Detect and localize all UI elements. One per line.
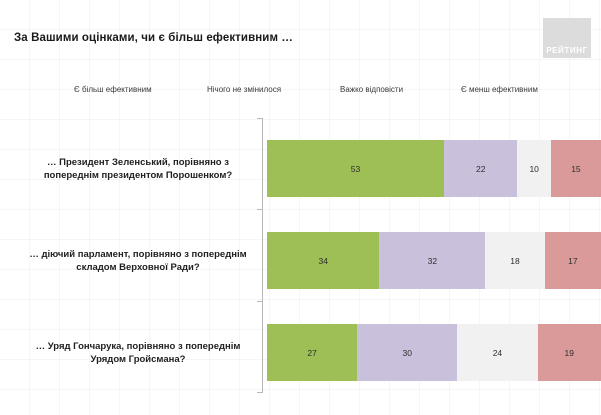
- slide-canvas: За Вашими оцінками, чи є більш ефективни…: [0, 0, 601, 415]
- bar-value-label: 27: [307, 348, 316, 358]
- category-label-line: … Уряд Гончарука, порівняно з попереднім: [20, 340, 256, 353]
- bar-row[interactable]: 27302419: [267, 324, 601, 381]
- legend-label: Є менш ефективним: [461, 85, 538, 95]
- axis-cap-top: [257, 118, 262, 119]
- bar-value-label: 53: [351, 164, 360, 174]
- bar-segment-no-change[interactable]: 32: [379, 232, 485, 289]
- category-label-president: … Президент Зеленський, порівняно з попе…: [20, 156, 256, 182]
- bar-value-label: 24: [493, 348, 502, 358]
- category-label-line: … Президент Зеленський, порівняно з: [20, 156, 256, 169]
- bar-segment-more-effective[interactable]: 27: [267, 324, 357, 381]
- bar-segment-hard-to-say[interactable]: 18: [485, 232, 545, 289]
- bar-segment-less-effective[interactable]: 17: [545, 232, 601, 289]
- bar-value-label: 32: [428, 256, 437, 266]
- brand-logo: РЕЙТИНГ: [543, 18, 591, 58]
- category-label-line: попереднім президентом Порошенком?: [20, 169, 256, 182]
- legend-swatch-lavender: [196, 87, 202, 93]
- chart-legend: Є більш ефективним Нічого не змінилося В…: [0, 83, 601, 97]
- bar-segment-no-change[interactable]: 30: [357, 324, 457, 381]
- legend-item-mensh-efektyvnym[interactable]: Є менш ефективним: [450, 83, 538, 97]
- legend-item-nichoho-ne-zminylosia[interactable]: Нічого не змінилося: [196, 83, 281, 97]
- bar-value-label: 19: [565, 348, 574, 358]
- bar-row[interactable]: 34321817: [267, 232, 601, 289]
- category-label-parliament: … діючий парламент, порівняно з попередн…: [20, 248, 256, 274]
- bar-row[interactable]: 53221015: [267, 140, 601, 197]
- category-label-line: Урядом Гройсмана?: [20, 353, 256, 366]
- category-axis-line: [262, 118, 263, 393]
- legend-swatch-gray: [329, 87, 335, 93]
- bar-segment-more-effective[interactable]: 34: [267, 232, 379, 289]
- axis-tick: [257, 301, 262, 302]
- legend-label: Є більш ефективним: [74, 85, 152, 95]
- category-label-line: складом Верховної Ради?: [20, 261, 256, 274]
- bar-segment-less-effective[interactable]: 19: [538, 324, 601, 381]
- page-title: За Вашими оцінками, чи є більш ефективни…: [14, 31, 514, 46]
- bar-segment-no-change[interactable]: 22: [444, 140, 517, 197]
- axis-tick: [257, 209, 262, 210]
- bar-value-label: 22: [476, 164, 485, 174]
- legend-item-bilsh-efektyvnym[interactable]: Є більш ефективним: [63, 83, 152, 97]
- legend-label: Нічого не змінилося: [207, 85, 281, 95]
- legend-item-vazhko-vidpovisty[interactable]: Важко відповісти: [329, 83, 403, 97]
- bar-value-label: 10: [529, 164, 538, 174]
- bar-segment-more-effective[interactable]: 53: [267, 140, 444, 197]
- bar-value-label: 15: [571, 164, 580, 174]
- bar-segment-hard-to-say[interactable]: 10: [517, 140, 550, 197]
- category-label-government: … Уряд Гончарука, порівняно з попереднім…: [20, 340, 256, 366]
- brand-logo-label: РЕЙТИНГ: [543, 46, 591, 55]
- bar-segment-less-effective[interactable]: 15: [551, 140, 601, 197]
- bar-value-label: 18: [510, 256, 519, 266]
- category-label-line: … діючий парламент, порівняно з попередн…: [20, 248, 256, 261]
- bar-value-label: 34: [318, 256, 327, 266]
- bar-value-label: 30: [403, 348, 412, 358]
- bar-value-label: 17: [568, 256, 577, 266]
- legend-label: Важко відповісти: [340, 85, 403, 95]
- legend-swatch-green: [63, 87, 69, 93]
- bar-segment-hard-to-say[interactable]: 24: [457, 324, 537, 381]
- chart-plot-area: 53221015 34321817 27302419: [262, 118, 601, 393]
- axis-cap-bottom: [257, 392, 262, 393]
- legend-swatch-salmon: [450, 87, 456, 93]
